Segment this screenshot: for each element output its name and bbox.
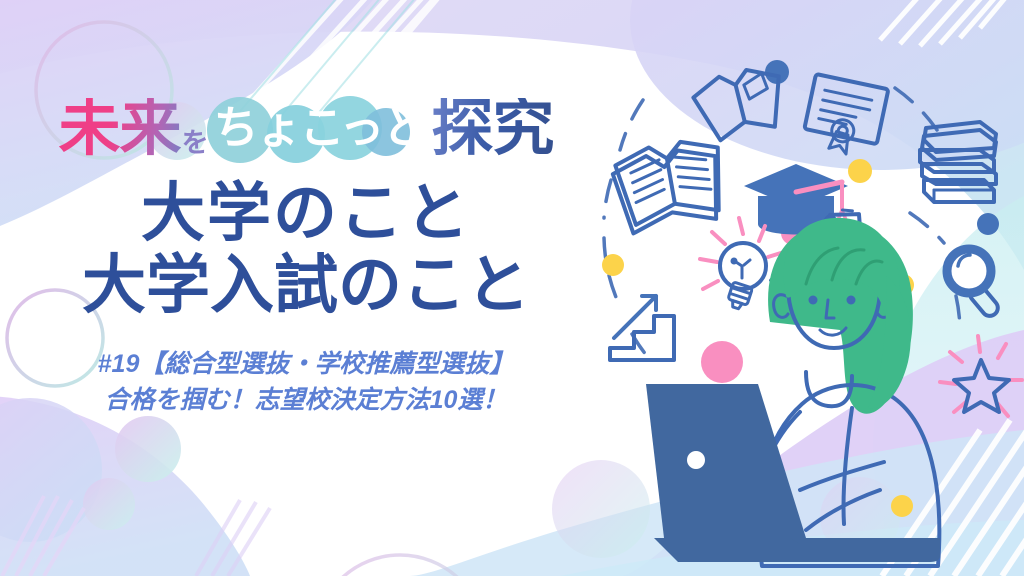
dot-pink-b (701, 341, 743, 383)
open-book-white-icon (609, 136, 730, 236)
subtitle-line-2: 合格を掴む！志望校決定方法10選！ (0, 383, 612, 419)
banner-canvas: .ol{stroke:#3f6ab4;stroke-width:4;stroke… (0, 0, 1024, 576)
series-logo: 未来 を ちょこっと 探究 (0, 86, 612, 160)
magnifier-icon (947, 249, 1001, 319)
certificate-icon (801, 74, 888, 160)
dot-yellow-c (891, 495, 913, 517)
page-subtitle: #19【総合型選抜・学校推薦型選抜】 合格を掴む！志望校決定方法10選！ (0, 347, 612, 418)
logo-part-mirai: 未来 (59, 98, 181, 160)
logo-part-tankyu: 探究 (431, 98, 553, 160)
text-block: 未来 を ちょこっと 探究 大学のこと 大学入試のこと #19【総合型選抜・学校… (0, 86, 612, 418)
logo-part-chokotto: ちょこっと (210, 105, 430, 150)
page-title: 大学のこと 大学入試のこと (0, 178, 612, 321)
title-line-1: 大学のこと (0, 178, 612, 250)
title-line-2: 大学入試のこと (0, 250, 612, 322)
subtitle-line-1: #19【総合型選抜・学校推薦型選抜】 (0, 347, 612, 383)
star-icon (940, 336, 1022, 416)
open-book-pink-icon (690, 63, 790, 144)
logo-bubble-group: ちょこっと (210, 96, 430, 158)
book-stack-icon (920, 122, 996, 202)
dot-yellow-a (848, 159, 872, 183)
dot-blue-right (977, 213, 999, 235)
